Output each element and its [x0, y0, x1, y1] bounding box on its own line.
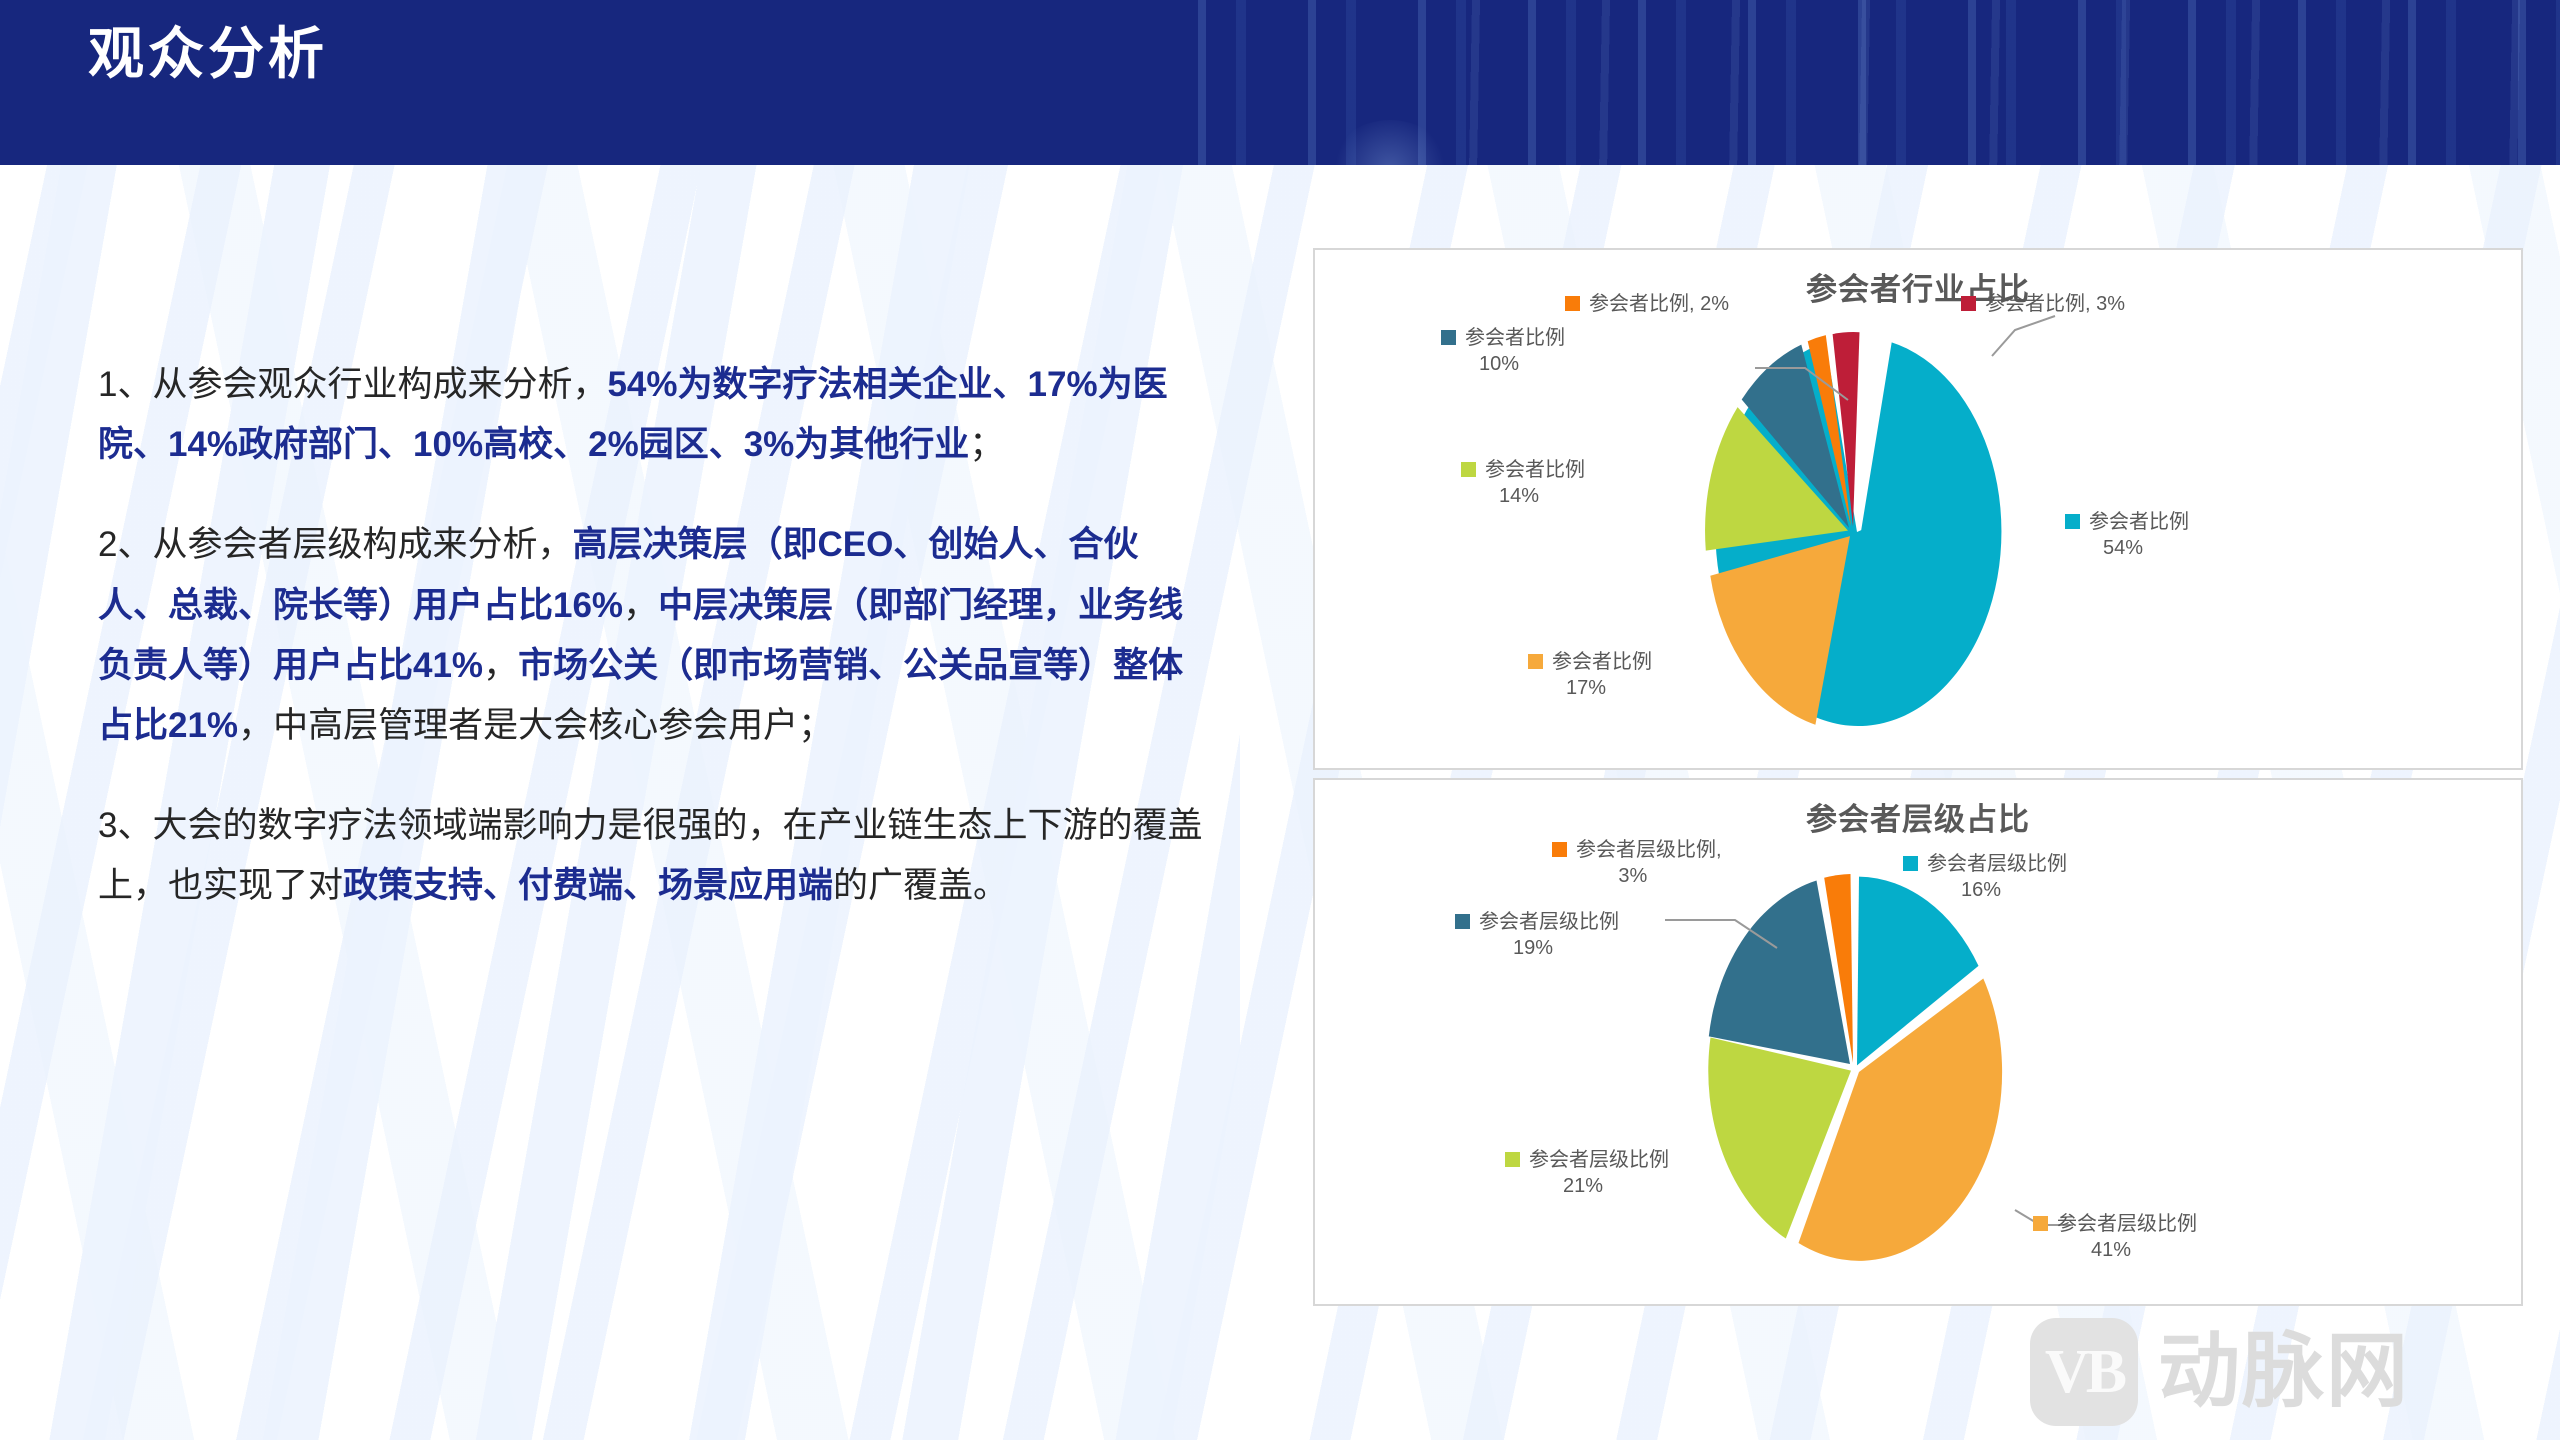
level-label-21pct: 参会者层级比例 21%: [1505, 1148, 1669, 1199]
legend-swatch-cyan: [2065, 514, 2080, 529]
text-run-2-7: ，中高层管理者是大会核心参会用户；: [238, 706, 833, 745]
pie-label-3pct: 参会者比例, 3%: [1961, 292, 2125, 318]
legend-swatch-green-2: [1505, 1152, 1520, 1167]
text-run-2-5: ，: [483, 646, 518, 685]
paragraph-1: 1、从参会观众行业构成来分析，54%为数字疗法相关企业、17%为医院、14%政府…: [98, 355, 1208, 475]
page-title: 观众分析: [88, 26, 328, 82]
paragraph-3: 3、大会的数字疗法领域端影响力是很强的，在产业链生态上下游的覆盖上，也实现了对政…: [98, 796, 1208, 916]
legend-swatch-cyan-2: [1903, 856, 1918, 871]
legend-swatch-amber: [1528, 654, 1543, 669]
legend-swatch-red: [1961, 296, 1976, 311]
text-run-2-3: ，: [623, 586, 658, 625]
pie-label-14pct: 参会者比例 14%: [1461, 458, 1585, 509]
level-label-41pct: 参会者层级比例 41%: [2033, 1212, 2197, 1263]
pie-svg-level: [1670, 868, 2040, 1268]
legend-swatch-amber-2: [2033, 1216, 2048, 1231]
chart-card-level: 参会者层级占比: [1313, 778, 2523, 1306]
text-run-1-3: ；: [969, 425, 1004, 464]
pie-label-17pct: 参会者比例 17%: [1528, 650, 1652, 701]
level-label-16pct: 参会者层级比例 16%: [1903, 852, 2067, 903]
text-run-3-2: 政策支持、付费端、场景应用端: [343, 866, 833, 905]
chart-card-industry: 参会者行业占比: [1313, 248, 2523, 770]
chart-title-industry: 参会者行业占比: [1315, 264, 2521, 309]
slide-header: 观众分析: [0, 0, 2560, 165]
text-run-3-3: 的广覆盖。: [833, 866, 1008, 905]
legend-swatch-orange-2: [1552, 842, 1567, 857]
level-label-19pct: 参会者层级比例 19%: [1455, 910, 1619, 961]
slide-root: 观众分析 1、从参会观众行业构成来分析，54%为数字疗法相关企业、17%为医院、…: [0, 0, 2560, 1440]
legend-swatch-green: [1461, 462, 1476, 477]
level-slice-19: [1709, 881, 1850, 1064]
pie-svg-industry: [1673, 332, 2033, 732]
legend-swatch-darkblue-2: [1455, 914, 1470, 929]
header-stripe-pattern-secondary: [1420, 0, 2560, 165]
pie-label-10pct: 参会者比例 10%: [1441, 326, 1565, 377]
pie-label-2pct: 参会者比例, 2%: [1565, 292, 1729, 318]
level-label-3pct: 参会者层级比例, 3%: [1552, 838, 1722, 889]
chart-title-level: 参会者层级占比: [1315, 794, 2521, 839]
watermark-text: 动脉网: [2158, 1331, 2410, 1413]
pie-chart-level: [1670, 868, 2040, 1268]
watermark-badge: VB: [2030, 1318, 2138, 1426]
body-text-block: 1、从参会观众行业构成来分析，54%为数字疗法相关企业、17%为医院、14%政府…: [98, 355, 1208, 917]
text-run-2-1: 2、从参会者层级构成来分析，: [98, 525, 572, 564]
pie-chart-industry: [1673, 332, 2033, 732]
text-run-1-1: 1、从参会观众行业构成来分析，: [98, 365, 607, 404]
legend-swatch-orange: [1565, 296, 1580, 311]
legend-swatch-darkblue: [1441, 330, 1456, 345]
paragraph-2: 2、从参会者层级构成来分析，高层决策层（即CEO、创始人、合伙人、总裁、院长等）…: [98, 515, 1208, 756]
pie-label-54pct: 参会者比例 54%: [2065, 510, 2189, 561]
watermark-logo: VB 动脉网: [2030, 1318, 2410, 1426]
